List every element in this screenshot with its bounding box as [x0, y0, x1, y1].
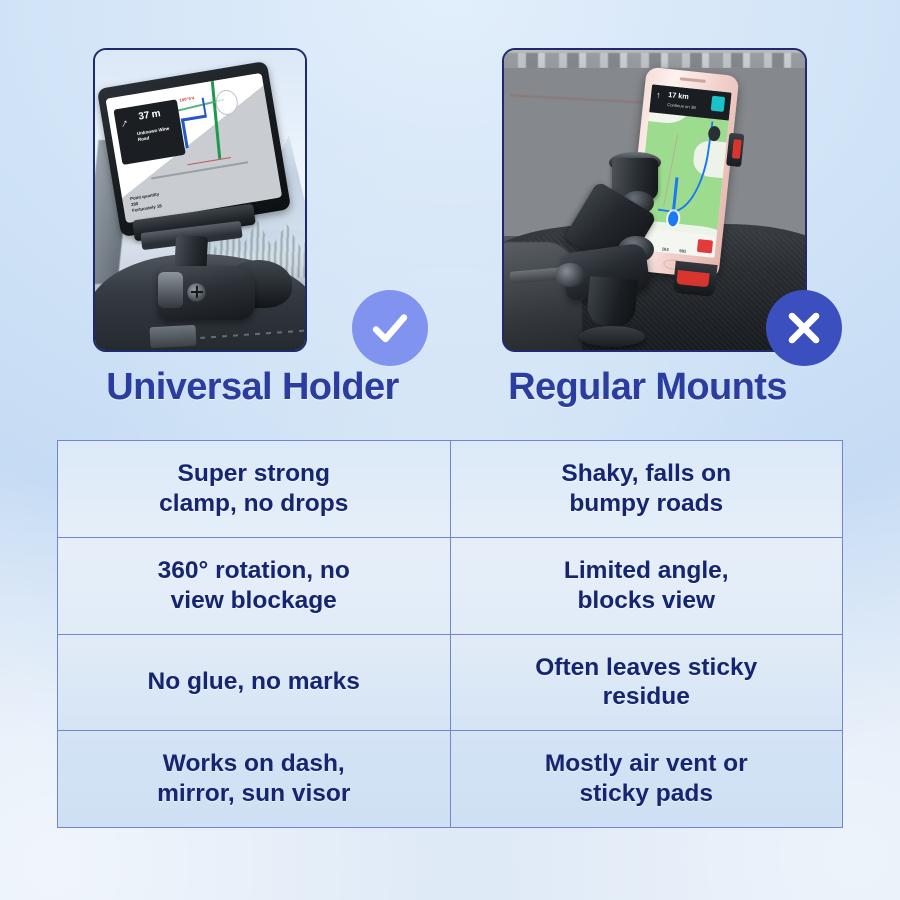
nav-exit-button: [697, 239, 713, 253]
cross-icon: [783, 307, 825, 349]
table-row: No glue, no marks Often leaves stickyres…: [58, 634, 843, 731]
photo-left-scene: 100°9'4 ↑ 37 m Unknown Wine Road ↗ Point…: [95, 50, 305, 350]
nav-stat-time: 981: [680, 248, 687, 254]
mount-tension-knob: [555, 263, 585, 287]
comparison-infographic: 100°9'4 ↑ 37 m Unknown Wine Road ↗ Point…: [0, 0, 900, 900]
cell-mount-drawback: Mostly air vent orsticky pads: [450, 731, 843, 828]
cell-holder-benefit: Works on dash,mirror, sun visor: [58, 731, 451, 828]
table-row: Super strongclamp, no drops Shaky, falls…: [58, 441, 843, 538]
table-row: Works on dash,mirror, sun visor Mostly a…: [58, 731, 843, 828]
cell-holder-benefit: Super strongclamp, no drops: [58, 441, 451, 538]
nav-distance: 37 m: [137, 108, 161, 122]
regular-mount-photo: ↑ 17 km Continue on 3B 5.39 163 981: [502, 48, 807, 352]
cell-holder-benefit: No glue, no marks: [58, 634, 451, 731]
mount-base-clip: [149, 325, 196, 348]
map-route-blue: [658, 116, 714, 217]
suction-cup-base: [579, 326, 645, 347]
distant-buildings: [504, 53, 805, 68]
cell-mount-drawback: Shaky, falls onbumpy roads: [450, 441, 843, 538]
mount-side-knob: [158, 272, 183, 308]
cell-mount-drawback: Limited angle,blocks view: [450, 537, 843, 634]
photo-right-scene: ↑ 17 km Continue on 3B 5.39 163 981: [504, 50, 805, 350]
phone-screen-navigation: 100°9'4 ↑ 37 m Unknown Wine Road ↗ Point…: [105, 72, 282, 222]
mounted-phone-landscape: 100°9'4 ↑ 37 m Unknown Wine Road ↗ Point…: [96, 61, 291, 237]
check-icon: [367, 305, 413, 351]
nav-distance: 17 km: [668, 90, 689, 101]
table-row: 360° rotation, noview blockage Limited a…: [58, 537, 843, 634]
navigation-instruction-card: ↑ 37 m Unknown Wine Road ↗: [113, 99, 185, 164]
comparison-table: Super strongclamp, no drops Shaky, falls…: [57, 440, 843, 828]
nav-street-name: Continue on 3B: [667, 102, 696, 110]
turn-arrow-icon: ↑: [656, 90, 662, 100]
cross-badge: [766, 290, 842, 366]
check-badge: [352, 290, 428, 366]
cell-holder-benefit: 360° rotation, noview blockage: [58, 537, 451, 634]
universal-holder-photo: 100°9'4 ↑ 37 m Unknown Wine Road ↗ Point…: [93, 48, 307, 352]
heading-regular-mounts: Regular Mounts: [450, 366, 845, 409]
turn-arrow-icon: ↑: [119, 116, 130, 129]
nav-street-name: Unknown Wine Road: [136, 126, 172, 143]
heading-universal-holder: Universal Holder: [55, 366, 450, 409]
nav-lane-chip: [711, 96, 726, 112]
cell-mount-drawback: Often leaves stickyresidue: [450, 634, 843, 731]
nav-stat-distance: 163: [662, 246, 669, 252]
mount-screw: [187, 283, 206, 303]
